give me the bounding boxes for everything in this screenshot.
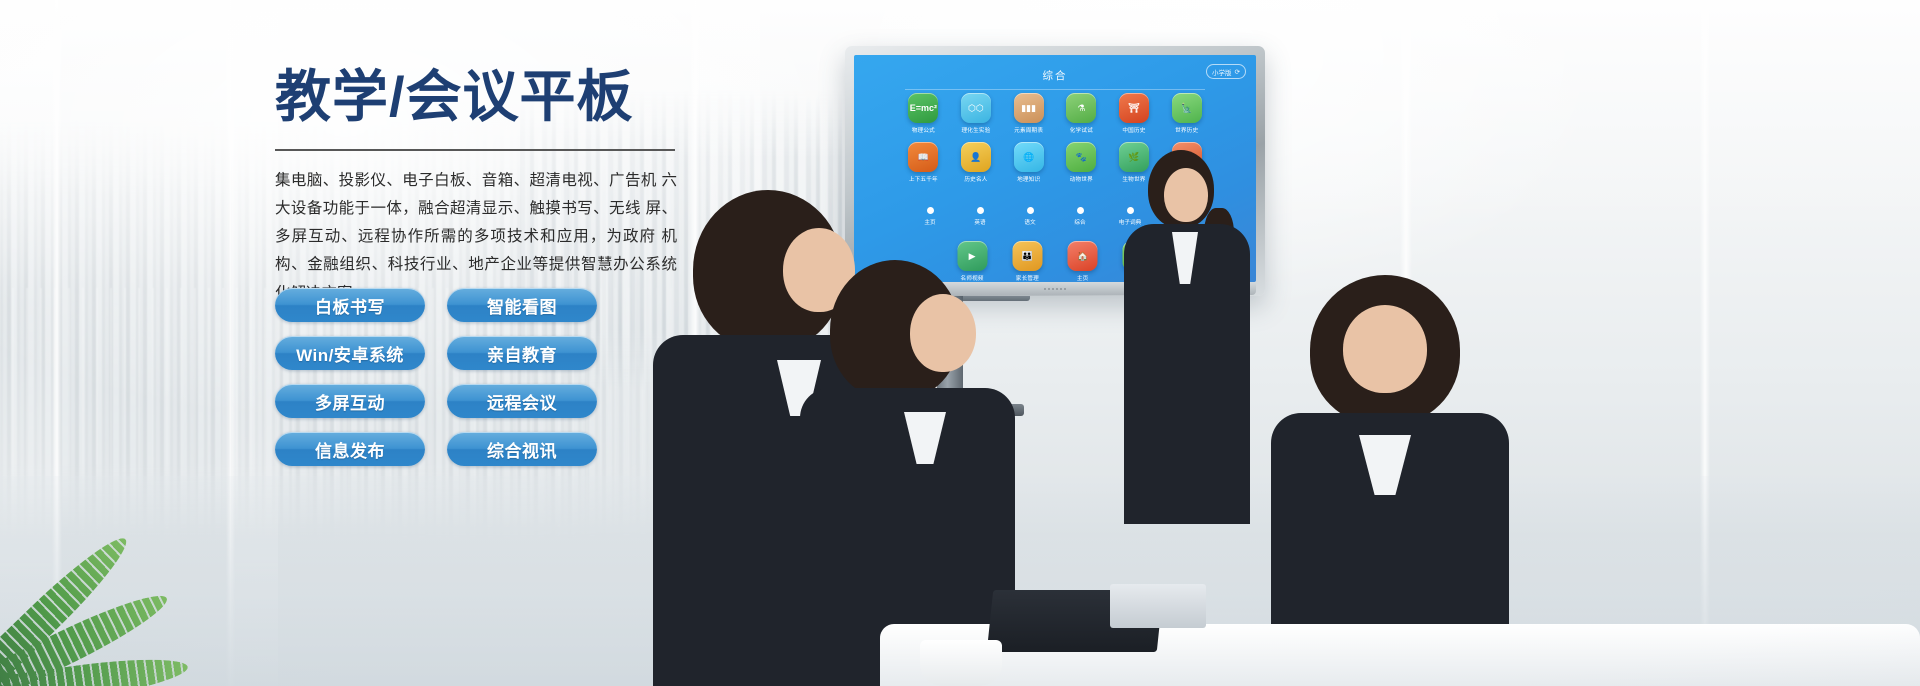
- feature-button-whiteboard[interactable]: 白板书写: [275, 288, 425, 322]
- feature-button-av-comm[interactable]: 综合视讯: [447, 432, 597, 466]
- app-label: 历史名人: [964, 175, 987, 183]
- feature-button-os[interactable]: Win/安卓系统: [275, 336, 425, 370]
- icon-glyph: 🏠: [1077, 251, 1088, 262]
- subject-nav-item-english[interactable]: 英语: [955, 207, 1005, 226]
- icon-glyph: 🐾: [1076, 152, 1087, 163]
- icon-glyph: E=mc²: [910, 103, 937, 113]
- app-label: 上下五千年: [909, 175, 938, 183]
- speaker-hole: [1048, 288, 1050, 290]
- presenter-person: [1110, 150, 1270, 570]
- subject-label: 语文: [1024, 218, 1035, 226]
- app-icon-chemistry[interactable]: ⚗ 化学试试: [1058, 93, 1105, 134]
- icon-glyph: ⛩: [1128, 103, 1139, 114]
- subject-nav-item-general[interactable]: 综合: [1055, 207, 1105, 226]
- speaker-hole: [1044, 288, 1046, 290]
- app-icon-physics-formula[interactable]: E=mc² 物理公式: [900, 93, 947, 134]
- laptop-screen[interactable]: [1110, 584, 1206, 628]
- speaker-hole: [1056, 288, 1058, 290]
- subject-nav-item-home[interactable]: 主页: [905, 207, 955, 226]
- subject-label: 英语: [974, 218, 985, 226]
- nav-dot-icon: [1027, 207, 1034, 214]
- app-icon-home[interactable]: 🏠 主页: [1058, 241, 1107, 282]
- palm-plant-decoration: [0, 456, 290, 686]
- nav-dot-icon: [927, 207, 934, 214]
- attendee-face: [910, 294, 976, 372]
- app-label: 地理知识: [1017, 175, 1040, 183]
- physics-formula-icon: E=mc²: [908, 93, 938, 123]
- app-icon-geography[interactable]: 🌐 地理知识: [1005, 142, 1052, 183]
- app-label: 世界历史: [1175, 126, 1198, 134]
- feature-button-remote-meet[interactable]: 远程会议: [447, 384, 597, 418]
- icon-glyph: ⬡⬡: [968, 103, 984, 114]
- speaker-hole: [1064, 288, 1066, 290]
- five-thousand-years-icon: 📖: [908, 142, 938, 172]
- marketing-copy: 教学/会议平板 集电脑、投影仪、电子白板、音箱、超清电视、广告机 六大设备功能于…: [275, 66, 675, 308]
- nav-dot-icon: [1077, 207, 1084, 214]
- grade-version-label: 小学版: [1212, 67, 1232, 77]
- app-label: 元素周期表: [1014, 126, 1043, 134]
- chinese-history-icon: ⛩: [1119, 93, 1149, 123]
- app-icon-science-lab[interactable]: ⬡⬡ 理化生实验: [953, 93, 1000, 134]
- app-icon-chinese-history[interactable]: ⛩ 中国历史: [1111, 93, 1158, 134]
- subject-label: 综合: [1074, 218, 1085, 226]
- app-label: 中国历史: [1122, 126, 1145, 134]
- grade-version-badge[interactable]: 小学版 ⟳: [1206, 64, 1246, 79]
- speaker-hole: [1052, 288, 1054, 290]
- home-icon: 🏠: [1068, 241, 1098, 271]
- coffee-cup: [920, 640, 1002, 686]
- screen-title: 综合: [854, 68, 1256, 83]
- icon-glyph: 🗽: [1181, 103, 1192, 114]
- feature-button-info-publish[interactable]: 信息发布: [275, 432, 425, 466]
- historical-figures-icon: 👤: [961, 142, 991, 172]
- app-icon-five-thousand-years[interactable]: 📖 上下五千年: [900, 142, 947, 183]
- presenter-face: [1164, 168, 1208, 222]
- app-label: 理化生实验: [962, 126, 991, 134]
- subject-nav-item-chinese[interactable]: 语文: [1005, 207, 1055, 226]
- feature-button-education[interactable]: 亲自教育: [447, 336, 597, 370]
- app-icon-animal-world[interactable]: 🐾 动物世界: [1058, 142, 1105, 183]
- description-text: 集电脑、投影仪、电子白板、音箱、超清电视、广告机 六大设备功能于一体，融合超清显…: [275, 167, 677, 308]
- icon-glyph: 🌐: [1023, 152, 1034, 163]
- banner-stage: 教学/会议平板 集电脑、投影仪、电子白板、音箱、超清电视、广告机 六大设备功能于…: [0, 0, 1920, 686]
- geography-icon: 🌐: [1014, 142, 1044, 172]
- app-label: 物理公式: [912, 126, 935, 134]
- icon-glyph: ▮▮▮: [1021, 103, 1036, 114]
- app-label: 主页: [1077, 274, 1089, 282]
- app-icon-periodic-table[interactable]: ▮▮▮ 元素周期表: [1005, 93, 1052, 134]
- app-label: 动物世界: [1070, 175, 1093, 183]
- icon-glyph: 📖: [918, 152, 929, 163]
- refresh-icon[interactable]: ⟳: [1235, 68, 1240, 76]
- feature-button-smart-view[interactable]: 智能看图: [447, 288, 597, 322]
- nav-dot-icon: [977, 207, 984, 214]
- chemistry-icon: ⚗: [1066, 93, 1096, 123]
- speaker-hole: [1060, 288, 1062, 290]
- page-title: 教学/会议平板: [275, 66, 675, 129]
- feature-button-grid: 白板书写 智能看图 Win/安卓系统 亲自教育 多屏互动 远程会议 信息发布 综…: [275, 288, 605, 466]
- attendee-face: [1343, 305, 1427, 393]
- icon-glyph: 👤: [970, 152, 981, 163]
- science-lab-icon: ⬡⬡: [961, 93, 991, 123]
- animal-world-icon: 🐾: [1066, 142, 1096, 172]
- icon-glyph: ⚗: [1077, 103, 1085, 114]
- world-history-icon: 🗽: [1172, 93, 1202, 123]
- app-icon-historical-figures[interactable]: 👤 历史名人: [953, 142, 1000, 183]
- feature-button-multiscreen[interactable]: 多屏互动: [275, 384, 425, 418]
- periodic-table-icon: ▮▮▮: [1014, 93, 1044, 123]
- app-icon-world-history[interactable]: 🗽 世界历史: [1163, 93, 1210, 134]
- app-label: 化学试试: [1070, 126, 1093, 134]
- subject-label: 主页: [924, 218, 935, 226]
- title-divider: [275, 149, 675, 151]
